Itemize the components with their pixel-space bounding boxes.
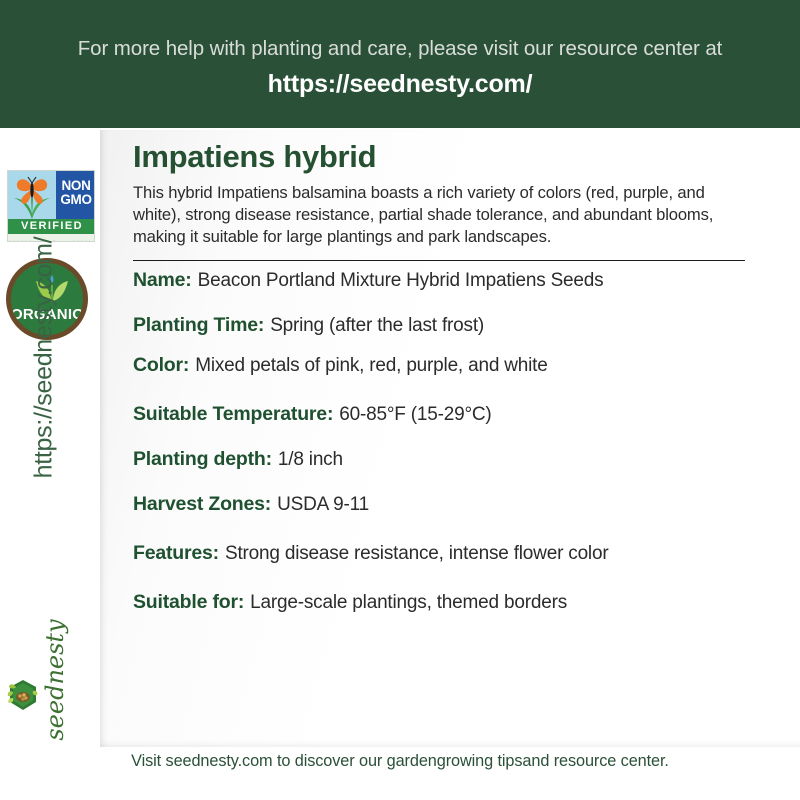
seednesty-hexagon-icon [6, 678, 40, 712]
spec-row-features: Features: Strong disease resistance, int… [133, 542, 781, 565]
spec-row-planting-depth: Planting depth: 1/8 inch [133, 448, 781, 471]
spec-label: Planting Time: [133, 314, 264, 337]
spec-label: Planting depth: [133, 448, 272, 471]
seed-packet-page: For more help with planting and care, pl… [0, 0, 800, 800]
spec-value: Large-scale plantings, themed borders [250, 592, 567, 614]
spec-row-name: Name: Beacon Portland Mixture Hybrid Imp… [133, 269, 781, 292]
spec-label: Color: [133, 354, 189, 377]
footer-text: Visit seednesty.com to discover our gard… [0, 752, 800, 771]
spec-label: Features: [133, 542, 219, 565]
spec-value: 60-85°F (15-29°C) [339, 404, 491, 426]
spec-row-planting-time: Planting Time: Spring (after the last fr… [133, 314, 781, 337]
header-help-text: For more help with planting and care, pl… [78, 37, 722, 62]
spec-value: Beacon Portland Mixture Hybrid Impatiens… [198, 270, 604, 292]
spec-row-suitable-temperature: Suitable Temperature: 60-85°F (15-29°C) [133, 403, 781, 426]
spec-label: Harvest Zones: [133, 493, 271, 516]
spec-row-harvest-zones: Harvest Zones: USDA 9-11 [133, 493, 781, 516]
spec-list: Name: Beacon Portland Mixture Hybrid Imp… [133, 269, 781, 614]
non-gmo-verified-label: VERIFIED [8, 219, 95, 234]
butterfly-grass-icon [8, 171, 56, 219]
header-banner: For more help with planting and care, pl… [0, 0, 800, 128]
spec-label: Suitable Temperature: [133, 403, 333, 426]
spec-value: 1/8 inch [278, 449, 343, 471]
footer: Visit seednesty.com to discover our gard… [0, 752, 800, 771]
brand-wordmark: seednesty [42, 666, 68, 746]
non-gmo-verified-badge: NON GMO VERIFIED [7, 170, 95, 242]
brand-wordmark-text: seednesty [41, 619, 69, 740]
non-gmo-line1: NON [56, 179, 95, 193]
spec-label: Suitable for: [133, 591, 244, 614]
description-text: This hybrid Impatiens balsamina boasts a… [133, 182, 745, 248]
spec-row-color: Color: Mixed petals of pink, red, purple… [133, 354, 781, 377]
spec-value: USDA 9-11 [277, 494, 369, 516]
info-card-content: Impatiens hybrid This hybrid Impatiens b… [133, 140, 781, 614]
section-divider [133, 260, 745, 261]
spec-value: Mixed petals of pink, red, purple, and w… [195, 355, 547, 377]
sidebar-vertical-url-text: https://seednesty.com/ [30, 237, 59, 479]
header-website-url[interactable]: https://seednesty.com/ [268, 70, 533, 99]
left-sidebar: NON GMO VERIFIED [0, 128, 100, 800]
spec-row-suitable-for: Suitable for: Large-scale plantings, the… [133, 591, 781, 614]
non-gmo-text-panel: NON GMO [56, 171, 95, 219]
spec-value: Strong disease resistance, intense flowe… [225, 543, 608, 565]
page-title: Impatiens hybrid [133, 140, 781, 174]
spec-label: Name: [133, 269, 192, 292]
brand-logo: seednesty [2, 648, 98, 758]
non-gmo-badge-top: NON GMO [8, 171, 95, 219]
non-gmo-line2: GMO [56, 193, 95, 207]
info-card: Impatiens hybrid This hybrid Impatiens b… [100, 130, 800, 747]
spec-value: Spring (after the last frost) [270, 315, 484, 337]
